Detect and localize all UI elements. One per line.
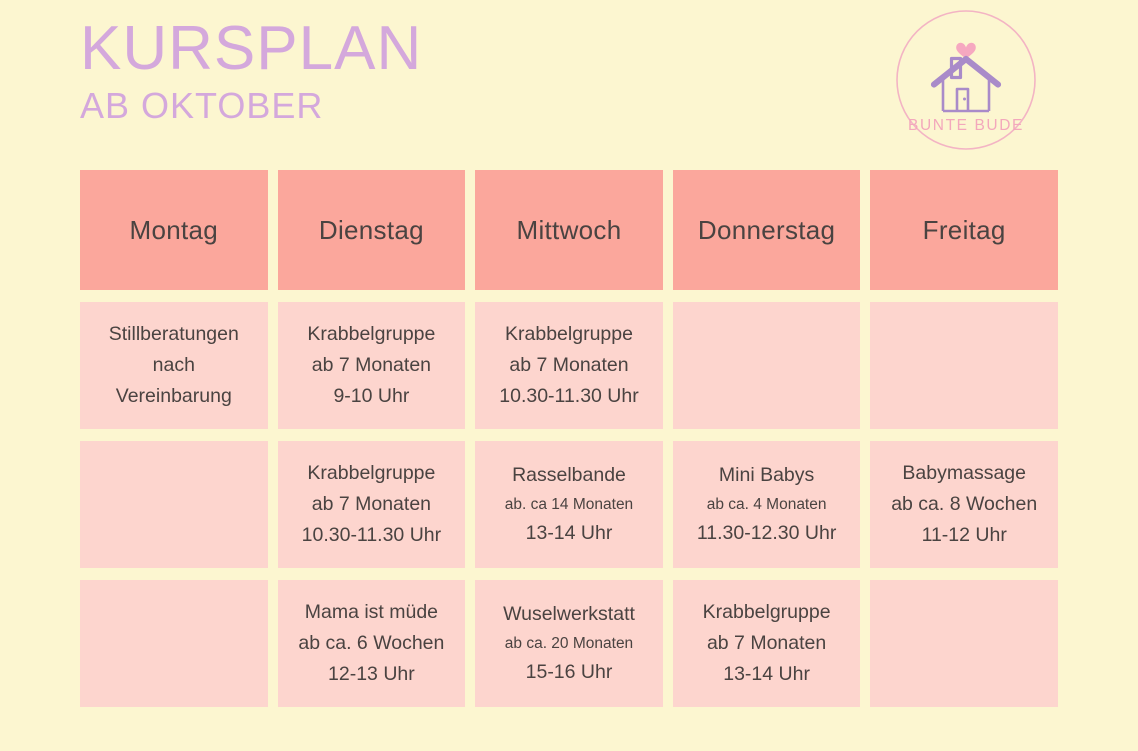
logo-text: BUNTE BUDE (908, 117, 1024, 134)
course-age: ab ca. 20 Monaten (505, 630, 633, 657)
slot-cell: Mini Babysab ca. 4 Monaten11.30-12.30 Uh… (673, 441, 861, 568)
slot-cell: StillberatungennachVereinbarung (80, 302, 268, 429)
course-detail: 10.30-11.30 Uhr (302, 520, 441, 551)
course-name: Stillberatungen (109, 319, 239, 350)
slot-cell: Wuselwerkstattab ca. 20 Monaten15-16 Uhr (475, 580, 663, 707)
day-header-label: Freitag (923, 215, 1006, 246)
slot-cell: Krabbelgruppeab 7 Monaten9-10 Uhr (278, 302, 466, 429)
day-header-label: Mittwoch (517, 215, 622, 246)
day-header-label: Donnerstag (698, 215, 835, 246)
course-detail: 10.30-11.30 Uhr (499, 381, 638, 412)
slot-cell-empty (870, 302, 1058, 429)
course-age: ab ca. 4 Monaten (707, 491, 827, 518)
slot-cell-empty (870, 580, 1058, 707)
day-header-label: Dienstag (319, 215, 424, 246)
slot-cell: Krabbelgruppeab 7 Monaten10.30-11.30 Uhr (278, 441, 466, 568)
slot-cell: Mama ist müdeab ca. 6 Wochen12-13 Uhr (278, 580, 466, 707)
course-detail: ab 7 Monaten (707, 628, 826, 659)
course-name: Mini Babys (719, 460, 814, 491)
page-title: KURSPLAN (80, 18, 422, 80)
course-detail: Vereinbarung (116, 381, 232, 412)
slot-cell-empty (80, 580, 268, 707)
course-detail: 15-16 Uhr (526, 657, 613, 688)
slot-cell: Krabbelgruppeab 7 Monaten10.30-11.30 Uhr (475, 302, 663, 429)
page-subtitle: AB OKTOBER (80, 86, 422, 126)
day-header-dienstag: Dienstag (278, 170, 466, 290)
course-detail: ab 7 Monaten (312, 350, 431, 381)
day-header-montag: Montag (80, 170, 268, 290)
day-header-donnerstag: Donnerstag (673, 170, 861, 290)
course-detail: 11.30-12.30 Uhr (697, 518, 836, 549)
title-block: KURSPLAN AB OKTOBER (80, 18, 422, 126)
day-header-freitag: Freitag (870, 170, 1058, 290)
door-icon (957, 89, 968, 111)
day-header-mittwoch: Mittwoch (475, 170, 663, 290)
course-name: Mama ist müde (305, 597, 438, 628)
course-detail: ab 7 Monaten (312, 489, 431, 520)
slot-cell-empty (80, 441, 268, 568)
slot-cell: Babymassageab ca. 8 Wochen11-12 Uhr (870, 441, 1058, 568)
slot-cell: Krabbelgruppeab 7 Monaten13-14 Uhr (673, 580, 861, 707)
course-name: Krabbelgruppe (307, 458, 435, 489)
course-detail: 13-14 Uhr (526, 518, 613, 549)
schedule-grid: MontagDienstagMittwochDonnerstagFreitagS… (80, 170, 1058, 707)
course-name: Krabbelgruppe (703, 597, 831, 628)
course-detail: 11-12 Uhr (922, 520, 1007, 551)
day-header-label: Montag (130, 215, 219, 246)
course-detail: 12-13 Uhr (328, 659, 415, 690)
house-body-icon (943, 78, 989, 111)
course-detail: nach (153, 350, 195, 381)
slot-cell-empty (673, 302, 861, 429)
course-detail: ab 7 Monaten (509, 350, 628, 381)
course-age: ab. ca 14 Monaten (505, 491, 633, 518)
door-knob-icon (963, 98, 966, 101)
course-name: Wuselwerkstatt (503, 599, 635, 630)
course-name: Babymassage (902, 458, 1026, 489)
course-name: Krabbelgruppe (505, 319, 633, 350)
course-detail: 9-10 Uhr (333, 381, 409, 412)
course-detail: 13-14 Uhr (723, 659, 810, 690)
course-name: Krabbelgruppe (307, 319, 435, 350)
bunte-bude-logo: BUNTE BUDE (894, 8, 1038, 152)
slot-cell: Rasselbandeab. ca 14 Monaten13-14 Uhr (475, 441, 663, 568)
course-detail: ab ca. 8 Wochen (891, 489, 1037, 520)
poster-header: KURSPLAN AB OKTOBER BUNTE BUDE (0, 0, 1138, 170)
course-detail: ab ca. 6 Wochen (298, 628, 444, 659)
course-name: Rasselbande (512, 460, 626, 491)
